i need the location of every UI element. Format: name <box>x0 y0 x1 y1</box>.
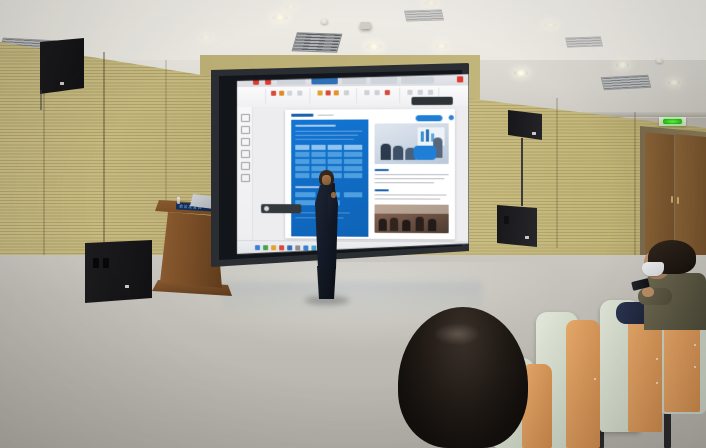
ceiling-downlight <box>616 62 629 68</box>
ceiling-downlight <box>514 70 528 76</box>
taskbar-icon[interactable] <box>295 245 300 250</box>
door-handle[interactable] <box>677 197 679 204</box>
conference-hall-photo: 会议发言台 <box>0 0 706 448</box>
table-header-cell <box>311 145 325 150</box>
table-cell <box>295 152 309 157</box>
table-cell <box>295 166 309 171</box>
panel-icon[interactable] <box>241 114 250 122</box>
body-heading <box>375 169 389 171</box>
seat-stud <box>594 378 596 380</box>
table-header-cell <box>344 145 362 150</box>
panel-icon[interactable] <box>241 138 250 146</box>
ribbon-icon[interactable] <box>271 91 276 96</box>
presenter-face <box>322 175 331 185</box>
table-cell <box>344 152 362 157</box>
attendee-front <box>398 307 528 448</box>
bottom-image <box>375 204 449 233</box>
ribbon-icon[interactable] <box>287 91 292 96</box>
taskbar-icon[interactable] <box>263 245 268 250</box>
ceiling-projector <box>360 22 371 29</box>
hair-highlight <box>434 323 480 345</box>
subwoofer-right <box>497 205 537 247</box>
ribbon-icon[interactable] <box>364 90 369 95</box>
gooseneck-microphone <box>177 197 180 204</box>
ribbon-icon[interactable] <box>344 90 349 95</box>
ceiling-downlight <box>668 80 680 85</box>
table-header-cell <box>328 145 342 150</box>
body-text-line <box>375 198 441 199</box>
ribbon-icon[interactable] <box>418 90 423 95</box>
ceiling-downlight <box>435 43 448 49</box>
ribbon-icon[interactable] <box>407 90 412 95</box>
panel-text-line <box>295 135 358 136</box>
exit-sign <box>659 117 686 126</box>
projected-application[interactable] <box>237 74 468 256</box>
panel-heading <box>295 125 336 127</box>
ceiling-downlight <box>200 35 212 40</box>
table-cell <box>344 159 362 164</box>
ribbon-icon[interactable] <box>375 90 380 95</box>
door-handle[interactable] <box>671 196 673 203</box>
panel-icon[interactable] <box>241 150 250 158</box>
presenter-hand <box>331 192 336 198</box>
table-cell <box>344 166 362 171</box>
help-icon[interactable] <box>449 115 454 120</box>
seat-stud <box>694 366 696 368</box>
face-mask <box>642 262 664 276</box>
smoke-detector <box>656 58 663 63</box>
close-window-button[interactable] <box>457 76 463 82</box>
ceiling-downlight <box>544 22 557 28</box>
subwoofer-left <box>85 240 152 303</box>
ceiling-ac-vent <box>404 9 444 21</box>
speaker-cable <box>40 90 42 110</box>
table-cell <box>328 152 342 157</box>
table-cell <box>328 159 342 164</box>
table-cell <box>295 173 309 178</box>
ribbon-icon[interactable] <box>297 91 302 96</box>
page-header-line <box>318 115 334 116</box>
seat-stud <box>656 358 658 360</box>
ribbon-icon[interactable] <box>428 90 433 95</box>
panel-text-line <box>295 131 362 132</box>
seat-leg <box>664 412 671 448</box>
taskbar-icon[interactable] <box>255 245 260 250</box>
table-header-cell <box>295 145 309 150</box>
ribbon-icon[interactable] <box>334 90 339 95</box>
attendee-masked <box>636 240 706 330</box>
exit-running-man-icon <box>663 119 682 124</box>
panel-text-line <box>295 139 354 140</box>
table-cell <box>295 159 309 164</box>
floating-presentation-toolbar[interactable] <box>411 97 452 105</box>
table-cell <box>311 159 325 164</box>
app-tab[interactable] <box>342 77 366 84</box>
panel-icon[interactable] <box>241 174 250 182</box>
ceiling-downlight <box>285 4 296 9</box>
seat-stud <box>656 382 658 384</box>
tooltip-icon <box>264 206 269 211</box>
section-badge <box>416 115 443 121</box>
ceiling-downlight <box>272 14 288 21</box>
ribbon-icon[interactable] <box>385 90 390 95</box>
taskbar-icon[interactable] <box>303 245 308 250</box>
ribbon-icon[interactable] <box>279 91 284 96</box>
ribbon-icon[interactable] <box>318 90 323 95</box>
seat-stud <box>694 344 696 346</box>
table-cell <box>344 173 362 178</box>
table-cell <box>344 192 362 197</box>
attendee-hand <box>642 287 654 297</box>
wall-panel-seam <box>165 60 167 205</box>
panel-icon[interactable] <box>241 162 250 170</box>
wall-panel-seam <box>556 98 558 248</box>
taskbar-icon[interactable] <box>287 245 292 250</box>
wall-speaker-right <box>508 110 542 140</box>
presenter <box>313 170 340 299</box>
page-header-line <box>291 114 313 117</box>
ceiling-downlight <box>424 0 438 6</box>
smoke-detector <box>321 19 328 24</box>
ceiling-ac-vent <box>601 75 652 91</box>
seat-side-panel <box>566 320 600 448</box>
ceiling-ac-vent <box>292 32 343 53</box>
body-text-line <box>375 178 445 179</box>
ribbon-group[interactable] <box>241 89 266 104</box>
image-callout-badge <box>414 146 437 160</box>
body-text-line <box>375 194 447 195</box>
taskbar-icon[interactable] <box>279 245 284 250</box>
ceiling-ac-vent <box>565 36 603 47</box>
body-text-line <box>375 174 449 175</box>
table-cell <box>311 152 325 157</box>
panel-icon[interactable] <box>241 126 250 134</box>
presenter-legs <box>317 266 336 299</box>
ceiling-downlight <box>366 43 382 50</box>
body-text-line <box>375 182 435 183</box>
ceiling-front-plane <box>0 0 706 60</box>
ribbon-icon[interactable] <box>326 90 331 95</box>
speaker-cable <box>521 138 523 206</box>
wall-speaker-left <box>40 38 84 94</box>
body-heading <box>375 189 389 191</box>
hero-image <box>375 123 449 164</box>
app-tab[interactable] <box>370 77 397 84</box>
app-tab[interactable] <box>401 77 434 84</box>
taskbar-icon[interactable] <box>271 245 276 250</box>
